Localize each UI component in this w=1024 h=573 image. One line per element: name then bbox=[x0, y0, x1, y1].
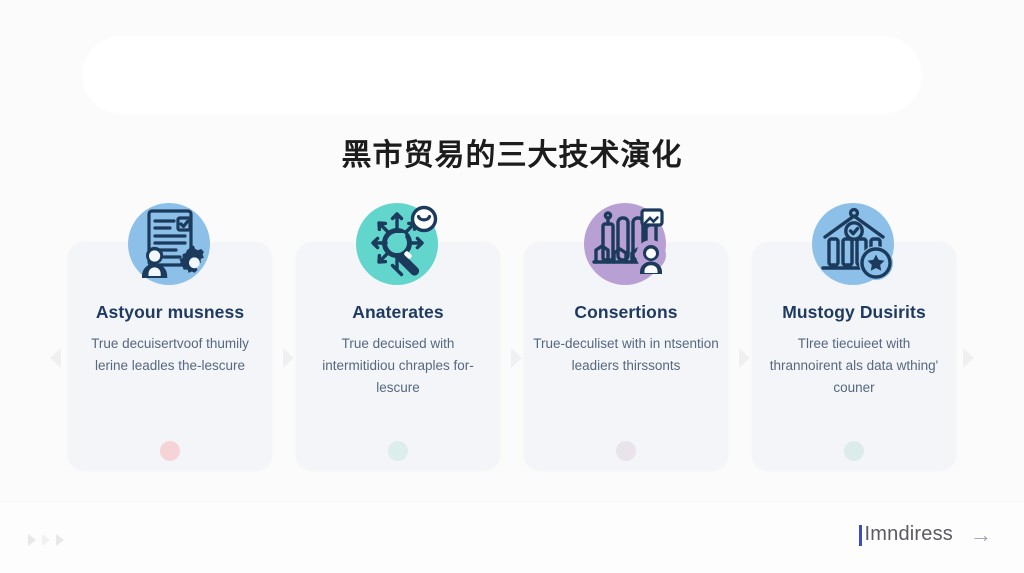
card-2-body: True decuised with intermitidiou chraple… bbox=[304, 333, 492, 399]
feature-card-row: Astyour musness True decuisertvoof thumi… bbox=[0, 242, 1024, 470]
bar-chart-city-profile-icon bbox=[580, 198, 672, 290]
card-4-body: Tlree tiecuieet with thrannoirent als da… bbox=[760, 333, 948, 399]
card-1-icon-wrap bbox=[124, 198, 216, 290]
chevron-right-icon-2 bbox=[42, 534, 50, 546]
bank-badge-icon bbox=[808, 198, 900, 290]
footer-bar: Imndiress → bbox=[0, 503, 1024, 573]
card-4-heading: Mustogy Dusirits bbox=[760, 302, 948, 323]
card-2-heading: Anaterates bbox=[304, 302, 492, 323]
card-2-icon-wrap bbox=[352, 198, 444, 290]
slide-canvas: 黑市贸易的三大技术演化 bbox=[0, 0, 1024, 573]
feature-card-1[interactable]: Astyour musness True decuisertvoof thumi… bbox=[68, 242, 272, 470]
card-4-accent-dot bbox=[844, 441, 864, 461]
arrow-right-icon[interactable]: → bbox=[970, 524, 992, 546]
card-3-text: Consertions True-deculiset with in ntsen… bbox=[524, 302, 728, 377]
brand-label: Imndiress bbox=[859, 523, 954, 546]
chevron-right-icon-1 bbox=[28, 534, 36, 546]
card-4-icon-wrap bbox=[808, 198, 900, 290]
magnifier-arrows-icon bbox=[352, 198, 444, 290]
chevron-right-icon-3 bbox=[56, 534, 64, 546]
document-profile-gear-icon bbox=[124, 198, 216, 290]
card-3-body: True-deculiset with in ntsention leadier… bbox=[532, 333, 720, 377]
footer-chevron-group bbox=[28, 534, 64, 546]
card-2-text: Anaterates True decuised with intermitid… bbox=[296, 302, 500, 399]
footer-brand-group[interactable]: Imndiress → bbox=[859, 523, 993, 546]
feature-card-4[interactable]: Mustogy Dusirits Tlree tiecuieet with th… bbox=[752, 242, 956, 470]
card-3-accent-dot bbox=[616, 441, 636, 461]
top-banner bbox=[82, 36, 922, 114]
card-1-text: Astyour musness True decuisertvoof thumi… bbox=[68, 302, 272, 377]
feature-card-3[interactable]: Consertions True-deculiset with in ntsen… bbox=[524, 242, 728, 470]
card-2-accent-dot bbox=[388, 441, 408, 461]
card-1-heading: Astyour musness bbox=[76, 302, 264, 323]
card-1-body: True decuisertvoof thumily lerine leadle… bbox=[76, 333, 264, 377]
card-3-icon-wrap bbox=[580, 198, 672, 290]
feature-card-2[interactable]: Anaterates True decuised with intermitid… bbox=[296, 242, 500, 470]
card-3-heading: Consertions bbox=[532, 302, 720, 323]
card-4-text: Mustogy Dusirits Tlree tiecuieet with th… bbox=[752, 302, 956, 399]
card-1-accent-dot bbox=[160, 441, 180, 461]
page-title: 黑市贸易的三大技术演化 bbox=[0, 130, 1024, 174]
